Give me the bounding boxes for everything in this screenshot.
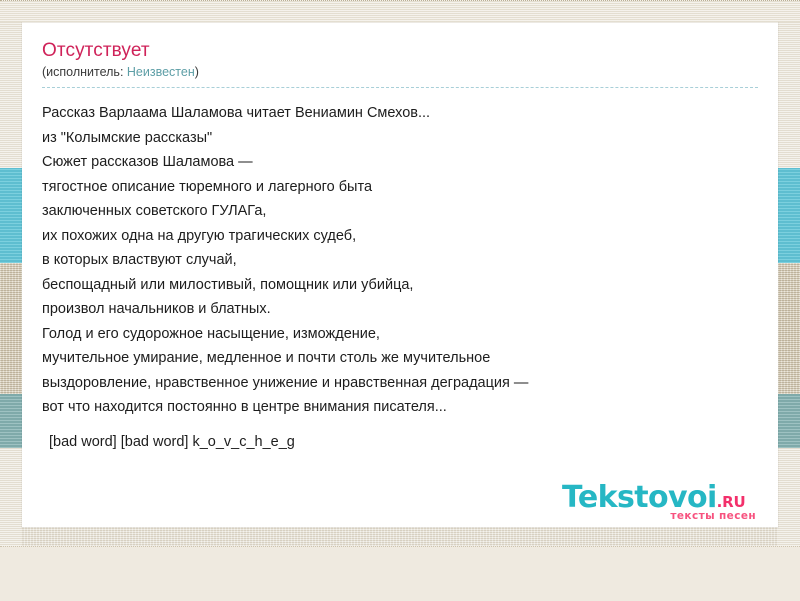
lyric-line: Рассказ Варлаама Шаламова читает Вениами… (42, 101, 758, 126)
logo-wordmark: Tekstovoi.RU (562, 483, 758, 513)
lyric-line: мучительное умирание, медленное и почти … (42, 346, 758, 371)
decor-block-teal-muted (0, 394, 22, 448)
background-band-bottom (0, 546, 800, 601)
lyric-line: в которых властвуют случай, (42, 248, 758, 273)
card-inner: Отсутствует (исполнитель: Неизвестен) Ра… (22, 23, 778, 454)
page-title: Отсутствует (42, 40, 758, 62)
lyric-card: Отсутствует (исполнитель: Неизвестен) Ра… (22, 23, 778, 527)
site-logo[interactable]: Tekstovoi.RU тексты песен (562, 483, 758, 525)
tags-line: [bad word] [bad word] k_o_v_c_h_e_g (42, 430, 758, 455)
background-band-top (0, 0, 800, 23)
decor-block-teal-bright (778, 168, 800, 263)
artist-suffix: ) (195, 65, 199, 79)
page-background: Отсутствует (исполнитель: Неизвестен) Ра… (0, 0, 800, 600)
logo-tld: .RU (717, 493, 746, 511)
artist-link[interactable]: Неизвестен (127, 65, 195, 79)
lyric-line: тягостное описание тюремного и лагерного… (42, 175, 758, 200)
decor-block-sand-light (0, 22, 22, 168)
decor-block-sand-dark (0, 263, 22, 394)
logo-name: Tekstovoi (562, 483, 717, 513)
lyric-line: вот что находится постоянно в центре вни… (42, 395, 758, 420)
lyric-line: Сюжет рассказов Шаламова — (42, 150, 758, 175)
lyric-line: произвол начальников и блатных. (42, 297, 758, 322)
decor-block-teal-muted (778, 394, 800, 448)
lyric-line: заключенных советского ГУЛАГа, (42, 199, 758, 224)
artist-label: (исполнитель: (42, 65, 127, 79)
decor-block-teal-bright (0, 168, 22, 263)
decor-block-sand-dark (778, 263, 800, 394)
decor-block-sand-light-lower (0, 448, 22, 546)
artist-line: (исполнитель: Неизвестен) (42, 65, 758, 88)
lyric-line: Голод и его судорожное насыщение, изможд… (42, 322, 758, 347)
lyric-line: их похожих одна на другую трагических су… (42, 224, 758, 249)
lyric-line: беспощадный или милостивый, помощник или… (42, 273, 758, 298)
decor-block-sand-light (778, 22, 800, 168)
lyric-line: из "Колымские рассказы" (42, 126, 758, 151)
lyric-line: выздоровление, нравственное унижение и н… (42, 371, 758, 396)
decor-block-sand-light-lower (778, 448, 800, 546)
lyrics-body: Рассказ Варлаама Шаламова читает Вениами… (42, 101, 758, 420)
